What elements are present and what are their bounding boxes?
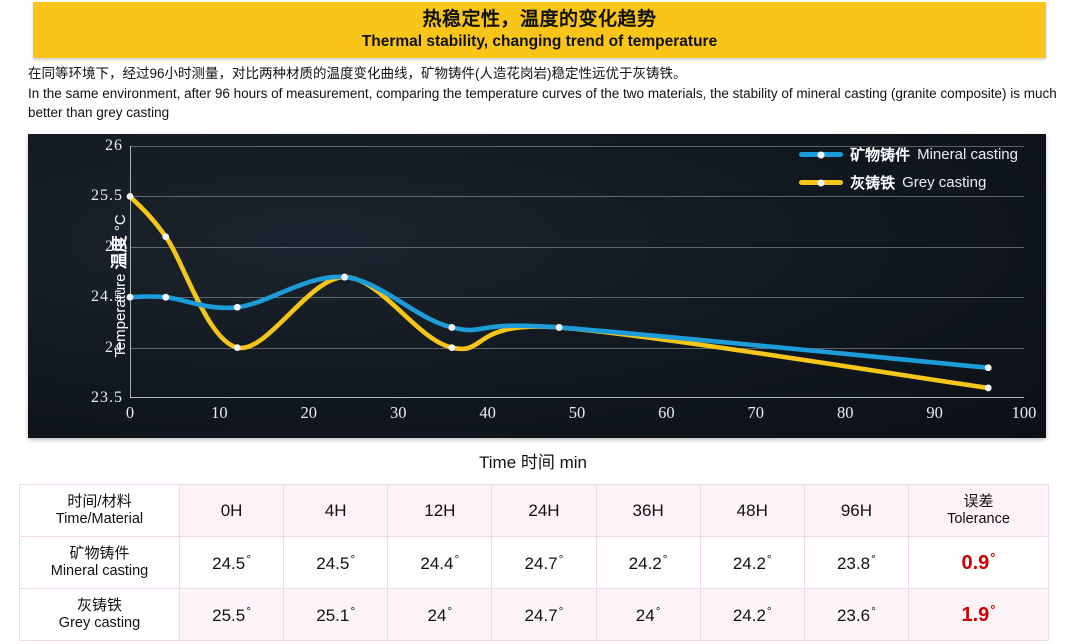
table-cell-value: 23.8°	[804, 537, 908, 589]
table-cell-value: 24.2°	[700, 537, 804, 589]
data-point-marker	[985, 364, 992, 371]
data-point-marker	[234, 304, 241, 311]
data-table-wrapper: 时间/材料Time/Material0H4H12H24H36H48H96H误差T…	[19, 484, 1049, 641]
legend-label-cn-grey: 灰铸铁	[850, 172, 895, 193]
table-header-cell: 24H	[492, 485, 596, 537]
legend-color-swatch-mineral	[799, 152, 843, 157]
banner-title-cn: 热稳定性，温度的变化趋势	[422, 9, 656, 31]
table-row-label: 灰铸铁Grey casting	[20, 589, 180, 641]
table-row: 灰铸铁Grey casting25.5°25.1°24°24.7°24°24.2…	[20, 589, 1049, 641]
table-header-row: 时间/材料Time/Material0H4H12H24H36H48H96H误差T…	[20, 485, 1049, 537]
x-axis-tick-label: 80	[837, 403, 854, 423]
table-cell-value: 25.5°	[180, 589, 284, 641]
legend-item-grey-casting[interactable]: 灰铸铁 Grey casting	[799, 172, 1018, 193]
header-label-cn: 时间/材料	[21, 493, 178, 511]
table-header-cell: 0H	[180, 485, 284, 537]
header-label-en: Time/Material	[21, 511, 178, 528]
data-point-marker	[127, 193, 134, 200]
table-header-cell: 48H	[700, 485, 804, 537]
y-axis-tick-label: 26	[105, 137, 123, 155]
x-axis-tick-label: 60	[658, 403, 675, 423]
x-axis-tick-label: 0	[126, 403, 134, 423]
table-header-tolerance: 误差Tolerance	[909, 485, 1049, 537]
chart-legend: 矿物铸件 Mineral casting 灰铸铁 Grey casting	[799, 144, 1018, 193]
table-cell-tolerance: 1.9°	[909, 589, 1049, 641]
x-axis-title: Time 时间 min	[0, 448, 1066, 473]
data-point-marker	[127, 294, 134, 301]
y-axis-tick-label: 25.5	[91, 187, 123, 205]
x-axis-tick-label: 10	[211, 403, 228, 423]
chart-panel: Temperature 温度 °C 矿物铸件 Mineral casting 灰…	[28, 134, 1046, 438]
data-point-marker	[556, 324, 563, 331]
x-axis-tick-label: 20	[301, 403, 318, 423]
legend-color-swatch-grey	[799, 180, 843, 185]
x-axis-tick-label: 90	[926, 403, 943, 423]
table-cell-value: 24°	[596, 589, 700, 641]
table-header-cell: 36H	[596, 485, 700, 537]
description-cn: 在同等环境下，经过96小时测量，对比两种材质的温度变化曲线，矿物铸件(人造花岗岩…	[28, 64, 1058, 84]
data-point-marker	[162, 294, 169, 301]
y-axis-tick-label: 24.5	[91, 288, 123, 306]
legend-label-en-mineral: Mineral casting	[917, 146, 1018, 163]
title-banner: 热稳定性，温度的变化趋势 Thermal stability, changing…	[33, 2, 1046, 58]
x-axis-tick-label: 30	[390, 403, 407, 423]
y-axis-tick-label: 23.5	[91, 389, 123, 407]
table-cell-value: 24.2°	[700, 589, 804, 641]
y-axis-title: Temperature 温度 °C	[105, 214, 130, 357]
data-table: 时间/材料Time/Material0H4H12H24H36H48H96H误差T…	[19, 484, 1049, 641]
table-cell-value: 24.5°	[180, 537, 284, 589]
table-cell-value: 25.1°	[284, 589, 388, 641]
series-grey-casting	[127, 193, 992, 391]
data-point-marker	[448, 344, 455, 351]
series-mineral-casting	[127, 274, 992, 372]
y-axis-tick-label: 25	[105, 238, 123, 256]
x-axis-tick-label: 70	[748, 403, 765, 423]
table-cell-value: 24.2°	[596, 537, 700, 589]
legend-label-cn-mineral: 矿物铸件	[850, 144, 910, 165]
legend-label-en-grey: Grey casting	[902, 174, 986, 191]
table-cell-value: 24.7°	[492, 537, 596, 589]
y-axis-tick-label: 24	[105, 339, 123, 357]
table-header-cell: 96H	[804, 485, 908, 537]
x-axis-tick-label: 50	[569, 403, 586, 423]
table-header-cell: 4H	[284, 485, 388, 537]
series-line	[130, 196, 988, 388]
table-cell-value: 24.4°	[388, 537, 492, 589]
data-point-marker	[448, 324, 455, 331]
table-row: 矿物铸件Mineral casting24.5°24.5°24.4°24.7°2…	[20, 537, 1049, 589]
series-line	[130, 277, 988, 368]
description-en: In the same environment, after 96 hours …	[28, 84, 1058, 123]
data-point-marker	[162, 233, 169, 240]
data-point-marker	[985, 385, 992, 392]
table-cell-value: 23.6°	[804, 589, 908, 641]
banner-title-en: Thermal stability, changing trend of tem…	[362, 32, 717, 51]
table-row-label: 矿物铸件Mineral casting	[20, 537, 180, 589]
table-cell-value: 24°	[388, 589, 492, 641]
table-cell-tolerance: 0.9°	[909, 537, 1049, 589]
table-header-cell: 12H	[388, 485, 492, 537]
y-axis-title-en: Temperature 温度 °C	[112, 214, 129, 357]
description-block: 在同等环境下，经过96小时测量，对比两种材质的温度变化曲线，矿物铸件(人造花岗岩…	[28, 64, 1058, 123]
table-cell-value: 24.5°	[284, 537, 388, 589]
table-cell-value: 24.7°	[492, 589, 596, 641]
table-header-first-cell: 时间/材料Time/Material	[20, 485, 180, 537]
data-point-marker	[341, 274, 348, 281]
x-axis-tick-label: 100	[1012, 403, 1037, 423]
legend-item-mineral-casting[interactable]: 矿物铸件 Mineral casting	[799, 144, 1018, 165]
x-axis-tick-label: 40	[479, 403, 496, 423]
data-point-marker	[234, 344, 241, 351]
